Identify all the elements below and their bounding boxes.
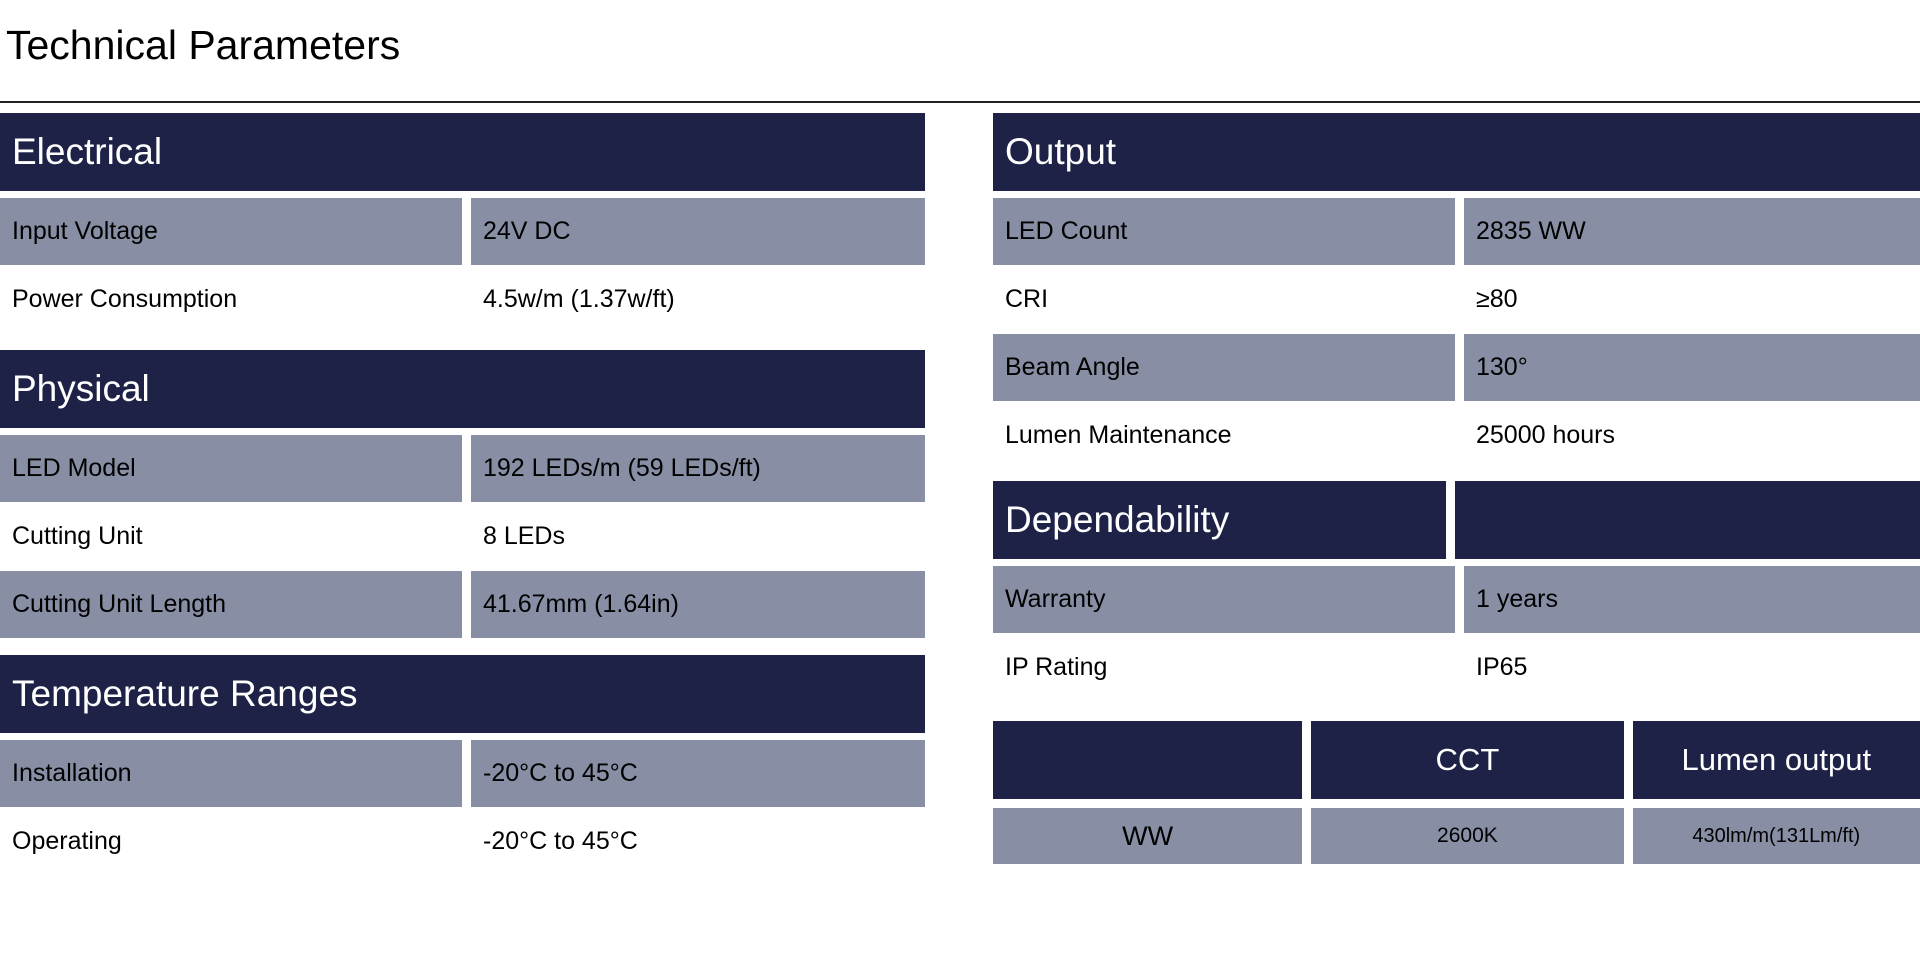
spec-value: IP65 bbox=[1464, 634, 1920, 701]
spec-value: 41.67mm (1.64in) bbox=[471, 571, 925, 638]
section-title-text: Output bbox=[1005, 131, 1116, 173]
spec-value: 2835 WW bbox=[1464, 198, 1920, 265]
cct-table-row: WW 2600K 430lm/m(131Lm/ft) bbox=[993, 808, 1920, 864]
spec-label: Operating bbox=[0, 808, 462, 875]
spec-label: Lumen Maintenance bbox=[993, 402, 1455, 469]
spec-label: Installation bbox=[0, 740, 462, 807]
table-row: Cutting Unit Length 41.67mm (1.64in) bbox=[0, 571, 925, 638]
cct-table-header-row: CCT Lumen output bbox=[993, 721, 1920, 799]
table-row: Power Consumption 4.5w/m (1.37w/ft) bbox=[0, 266, 925, 333]
spec-label: Cutting Unit Length bbox=[0, 571, 462, 638]
spec-value: 4.5w/m (1.37w/ft) bbox=[471, 266, 925, 333]
cct-header-cct: CCT bbox=[1311, 721, 1623, 799]
spec-label: CRI bbox=[993, 266, 1455, 333]
spec-label: Input Voltage bbox=[0, 198, 462, 265]
cct-lumen-table: CCT Lumen output WW 2600K 430lm/m(131Lm/… bbox=[993, 721, 1920, 864]
spec-value: ≥80 bbox=[1464, 266, 1920, 333]
spec-label: LED Model bbox=[0, 435, 462, 502]
spec-label: Beam Angle bbox=[993, 334, 1455, 401]
table-row: Input Voltage 24V DC bbox=[0, 198, 925, 265]
cct-header-blank bbox=[993, 721, 1302, 799]
spec-label: LED Count bbox=[993, 198, 1455, 265]
section-header-dependability: Dependability bbox=[993, 481, 1920, 559]
section-title-text: Dependability bbox=[1005, 499, 1229, 541]
table-row: Installation -20°C to 45°C bbox=[0, 740, 925, 807]
spec-label: Cutting Unit bbox=[0, 503, 462, 570]
cct-cell-color-code: WW bbox=[993, 808, 1302, 864]
section-header-physical: Physical bbox=[0, 350, 925, 428]
section-title-text: Physical bbox=[12, 368, 150, 410]
spec-value: 130° bbox=[1464, 334, 1920, 401]
section-title-dependability: Dependability bbox=[993, 481, 1446, 559]
table-row: Operating -20°C to 45°C bbox=[0, 808, 925, 875]
table-row: Cutting Unit 8 LEDs bbox=[0, 503, 925, 570]
spec-value: 8 LEDs bbox=[471, 503, 925, 570]
section-title-text: Electrical bbox=[12, 131, 162, 173]
spec-label: Power Consumption bbox=[0, 266, 462, 333]
left-column: Electrical Input Voltage 24V DC Power Co… bbox=[0, 113, 925, 876]
section-title-text: Temperature Ranges bbox=[12, 673, 358, 715]
right-column: Output LED Count 2835 WW CRI ≥80 Beam An… bbox=[993, 113, 1920, 873]
spec-value: -20°C to 45°C bbox=[471, 740, 925, 807]
spec-value: -20°C to 45°C bbox=[471, 808, 925, 875]
table-row: Warranty 1 years bbox=[993, 566, 1920, 633]
table-row: LED Model 192 LEDs/m (59 LEDs/ft) bbox=[0, 435, 925, 502]
spec-label: Warranty bbox=[993, 566, 1455, 633]
table-row: CRI ≥80 bbox=[993, 266, 1920, 333]
cct-cell-temperature: 2600K bbox=[1311, 808, 1623, 864]
section-header-electrical: Electrical bbox=[0, 113, 925, 191]
section-header-temperature-ranges: Temperature Ranges bbox=[0, 655, 925, 733]
spec-label: IP Rating bbox=[993, 634, 1455, 701]
section-header-output: Output bbox=[993, 113, 1920, 191]
spec-value: 192 LEDs/m (59 LEDs/ft) bbox=[471, 435, 925, 502]
table-row: Beam Angle 130° bbox=[993, 334, 1920, 401]
table-row: Lumen Maintenance 25000 hours bbox=[993, 402, 1920, 469]
section-title-physical: Physical bbox=[0, 350, 925, 428]
section-title-temperature-ranges: Temperature Ranges bbox=[0, 655, 925, 733]
spec-value: 24V DC bbox=[471, 198, 925, 265]
page-title: Technical Parameters bbox=[6, 22, 400, 69]
section-header-filler bbox=[1455, 481, 1920, 559]
technical-parameters-page: Technical Parameters Electrical Input Vo… bbox=[0, 0, 1920, 980]
cct-cell-lumen-output: 430lm/m(131Lm/ft) bbox=[1633, 808, 1920, 864]
table-row: IP Rating IP65 bbox=[993, 634, 1920, 701]
section-title-output: Output bbox=[993, 113, 1920, 191]
table-row: LED Count 2835 WW bbox=[993, 198, 1920, 265]
section-title-electrical: Electrical bbox=[0, 113, 925, 191]
spec-value: 25000 hours bbox=[1464, 402, 1920, 469]
cct-header-lumen-output: Lumen output bbox=[1633, 721, 1920, 799]
title-divider bbox=[0, 101, 1920, 103]
spec-value: 1 years bbox=[1464, 566, 1920, 633]
